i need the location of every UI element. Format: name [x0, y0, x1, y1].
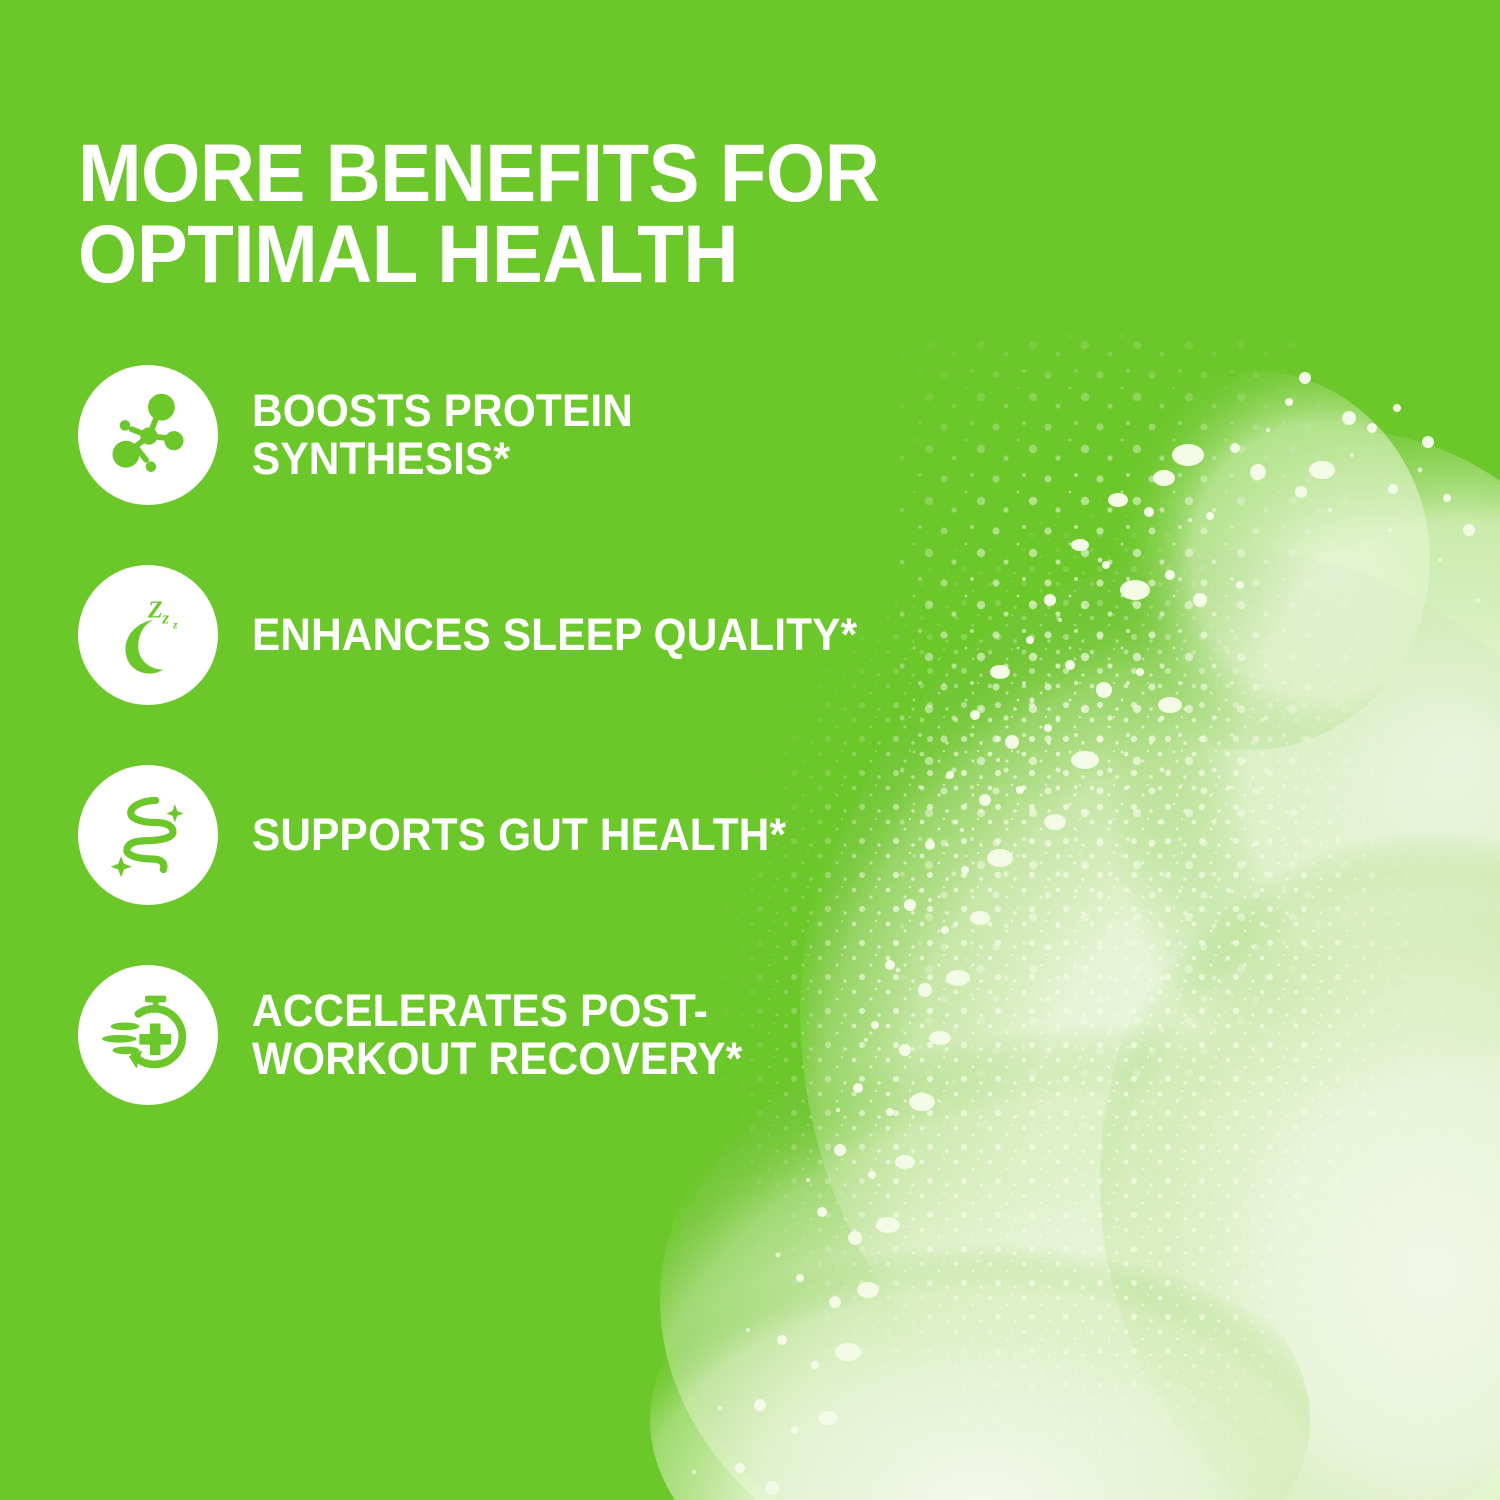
list-item: Z z z ENHANCES SLEEP QUALITY*: [78, 560, 1078, 710]
intestine-sparkle-icon: [78, 765, 218, 905]
benefit-label: SUPPORTS GUT HEALTH*: [252, 811, 786, 859]
page-title: MORE BENEFITS FOR OPTIMAL HEALTH: [78, 133, 1017, 295]
benefit-label: BOOSTS PROTEIN SYNTHESIS*: [252, 387, 633, 482]
benefits-banner: MORE BENEFITS FOR OPTIMAL HEALTH: [0, 0, 1500, 1500]
moon-zzz-icon: Z z z: [78, 565, 218, 705]
svg-text:Z: Z: [147, 598, 163, 624]
svg-text:z: z: [172, 619, 178, 631]
svg-text:z: z: [161, 608, 169, 627]
list-item: ACCELERATES POST- WORKOUT RECOVERY*: [78, 960, 1078, 1110]
benefit-label: ACCELERATES POST- WORKOUT RECOVERY*: [252, 987, 742, 1082]
benefits-list: BOOSTS PROTEIN SYNTHESIS* Z z z ENHANCES…: [78, 360, 1078, 1110]
list-item: SUPPORTS GUT HEALTH*: [78, 760, 1078, 910]
molecule-icon: [78, 365, 218, 505]
stopwatch-plus-recovery-icon: [78, 965, 218, 1105]
list-item: BOOSTS PROTEIN SYNTHESIS*: [78, 360, 1078, 510]
benefit-label: ENHANCES SLEEP QUALITY*: [252, 611, 857, 659]
